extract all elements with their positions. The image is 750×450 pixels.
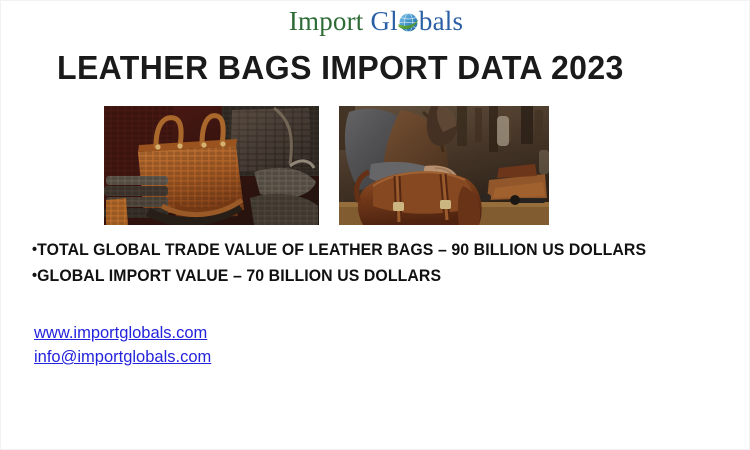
logo-text: Import Gl [289,5,463,37]
list-item-text: GLOBAL IMPORT VALUE – 70 BILLION US DOLL… [37,267,441,285]
contact-block: www.importglobals.com info@importglobals… [34,321,211,369]
list-item: •TOTAL GLOBAL TRADE VALUE OF LEATHER BAG… [32,237,704,263]
globe-icon [398,8,419,29]
logo-word-gl: Gl [370,6,397,36]
email-link[interactable]: info@importglobals.com [34,345,211,369]
website-link[interactable]: www.importglobals.com [34,321,211,345]
logo-word-bals: bals [419,6,463,36]
list-item: •GLOBAL IMPORT VALUE – 70 BILLION US DOL… [32,263,704,289]
logo-word-import: Import [289,6,364,36]
photo-row [104,106,554,225]
page-title: LEATHER BAGS IMPORT DATA 2023 [57,49,688,87]
leather-craftsman-photo [339,106,549,225]
crocodile-leather-bags-photo [104,106,319,225]
brand-logo[interactable]: Import Gl [1,5,750,39]
slide-canvas: Import Gl [0,0,750,450]
list-item-text: TOTAL GLOBAL TRADE VALUE OF LEATHER BAGS… [37,241,646,259]
key-stats-list: •TOTAL GLOBAL TRADE VALUE OF LEATHER BAG… [32,237,732,289]
